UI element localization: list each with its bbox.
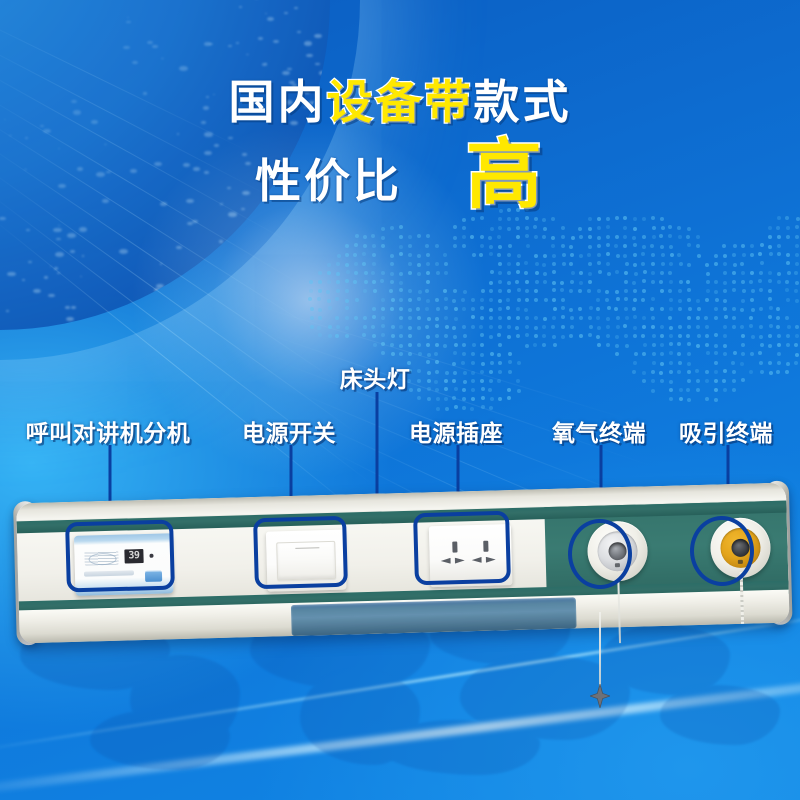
bed-lamp-diffuser: [291, 597, 577, 636]
intercom-label-slot: [84, 570, 134, 576]
wall-rocker-switch[interactable]: [266, 530, 347, 592]
universal-power-socket[interactable]: [429, 524, 513, 587]
suction-outlet-keyway: [738, 560, 743, 564]
callout-power-switch-label: 电源开关: [242, 414, 336, 448]
intercom-call-button[interactable]: [145, 571, 162, 582]
rocker-paddle[interactable]: [276, 541, 336, 581]
socket-outlet-right[interactable]: [471, 540, 502, 569]
medical-bedhead-panel: 39: [16, 483, 790, 659]
socket-pin-pair: [472, 555, 502, 564]
callout-oxygen-label: 氧气终端: [552, 414, 646, 448]
socket-pin-pair: [441, 556, 471, 565]
socket-outlet-left[interactable]: [440, 541, 471, 570]
oxygen-outlet-keyway: [615, 563, 620, 567]
promo-banner: 国内设备带款式 性价比 高 呼叫对讲机分机 电源开关 床头灯 电源插座 氧气终端…: [0, 0, 800, 800]
intercom-led-indicator: [149, 554, 153, 558]
panel-body: 39: [16, 483, 790, 644]
intercom-display: 39: [124, 549, 143, 564]
callout-group: 呼叫对讲机分机 电源开关 床头灯 电源插座 氧气终端 吸引终端: [0, 0, 800, 800]
callout-bed-lamp-label: 床头灯: [340, 360, 411, 394]
callout-power-socket-label: 电源插座: [409, 414, 503, 448]
pull-cord-weight-icon: [590, 684, 610, 708]
nurse-call-intercom[interactable]: 39: [74, 533, 174, 596]
speaker-grille-icon: [84, 551, 118, 566]
oxygen-gas-outlet[interactable]: [587, 520, 649, 582]
callout-suction-label: 吸引终端: [679, 414, 773, 448]
callout-intercom-label: 呼叫对讲机分机: [26, 414, 191, 448]
nurse-call-pull-cord[interactable]: [599, 612, 601, 694]
socket-pin-vertical: [483, 541, 488, 552]
suction-vacuum-outlet[interactable]: [710, 517, 772, 579]
socket-pin-vertical: [452, 542, 457, 553]
